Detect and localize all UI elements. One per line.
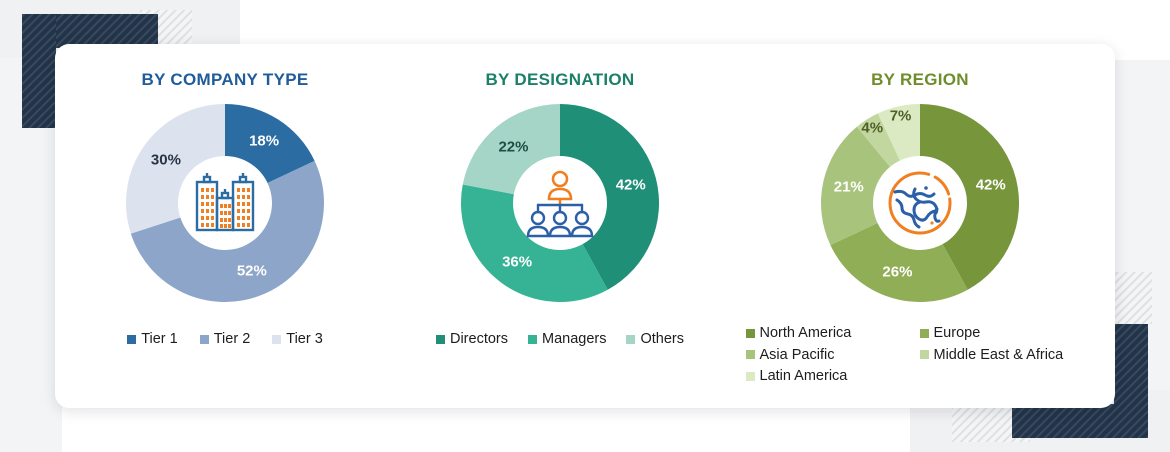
legend-item-tier-3[interactable]: Tier 3 bbox=[272, 332, 323, 347]
legend-swatch-icon bbox=[746, 329, 755, 338]
legend-swatch-icon bbox=[920, 329, 929, 338]
donut-chart-designation: 42%36%22% bbox=[461, 104, 659, 302]
decor-corner-bar-vertical bbox=[1114, 324, 1148, 438]
infographic-root: BY COMPANY TYPE bbox=[0, 0, 1170, 452]
legend-item-label: Tier 2 bbox=[214, 332, 251, 347]
legend-designation: Directors Managers Others bbox=[395, 332, 725, 347]
org-chart-people-icon bbox=[523, 168, 597, 238]
legend-item-label: North America bbox=[760, 326, 852, 341]
legend-item-europe[interactable]: Europe bbox=[920, 326, 1095, 341]
legend-swatch-icon bbox=[746, 350, 755, 359]
office-buildings-icon bbox=[188, 166, 262, 240]
donut-chart-region: 42%26%21%4%7% bbox=[821, 104, 1019, 302]
panel-title-region: BY REGION bbox=[725, 70, 1115, 90]
legend-company-type: Tier 1 Tier 2 Tier 3 bbox=[55, 332, 395, 347]
globe-icon bbox=[882, 165, 958, 241]
legend-swatch-icon bbox=[626, 335, 635, 344]
legend-swatch-icon bbox=[272, 335, 281, 344]
legend-swatch-icon bbox=[528, 335, 537, 344]
legend-item-label: Europe bbox=[934, 326, 981, 341]
legend-swatch-icon bbox=[127, 335, 136, 344]
panel-region: BY REGION 42%26%21%4%7% North America Eu… bbox=[725, 58, 1115, 408]
legend-item-managers[interactable]: Managers bbox=[528, 332, 606, 347]
donut-chart-company-type: 18%52%30% bbox=[126, 104, 324, 302]
panel-company-type: BY COMPANY TYPE bbox=[55, 58, 395, 408]
content-card: BY COMPANY TYPE bbox=[55, 44, 1115, 408]
legend-region: North America Europe Asia Pacific Middle… bbox=[725, 326, 1115, 384]
legend-item-latin-america[interactable]: Latin America bbox=[746, 369, 916, 384]
legend-item-label: Asia Pacific bbox=[760, 348, 835, 363]
decor-corner-bar-vertical bbox=[22, 14, 56, 128]
legend-item-label: Tier 3 bbox=[286, 332, 323, 347]
legend-item-tier-2[interactable]: Tier 2 bbox=[200, 332, 251, 347]
legend-swatch-icon bbox=[920, 350, 929, 359]
legend-item-label: Latin America bbox=[760, 369, 848, 384]
legend-swatch-icon bbox=[200, 335, 209, 344]
legend-swatch-icon bbox=[746, 372, 755, 381]
legend-swatch-icon bbox=[436, 335, 445, 344]
panel-title-company-type: BY COMPANY TYPE bbox=[55, 70, 395, 90]
panel-designation: BY DESIGNATION 42%36%22% bbox=[395, 58, 725, 408]
legend-item-label: Tier 1 bbox=[141, 332, 178, 347]
legend-item-label: Directors bbox=[450, 332, 508, 347]
legend-item-middle-east-africa[interactable]: Middle East & Africa bbox=[920, 348, 1095, 363]
legend-item-label: Middle East & Africa bbox=[934, 348, 1064, 363]
legend-item-tier-1[interactable]: Tier 1 bbox=[127, 332, 178, 347]
legend-item-directors[interactable]: Directors bbox=[436, 332, 508, 347]
legend-item-label: Others bbox=[640, 332, 684, 347]
panel-title-designation: BY DESIGNATION bbox=[395, 70, 725, 90]
legend-item-others[interactable]: Others bbox=[626, 332, 684, 347]
legend-item-asia-pacific[interactable]: Asia Pacific bbox=[746, 348, 916, 363]
legend-item-label: Managers bbox=[542, 332, 606, 347]
legend-item-north-america[interactable]: North America bbox=[746, 326, 916, 341]
